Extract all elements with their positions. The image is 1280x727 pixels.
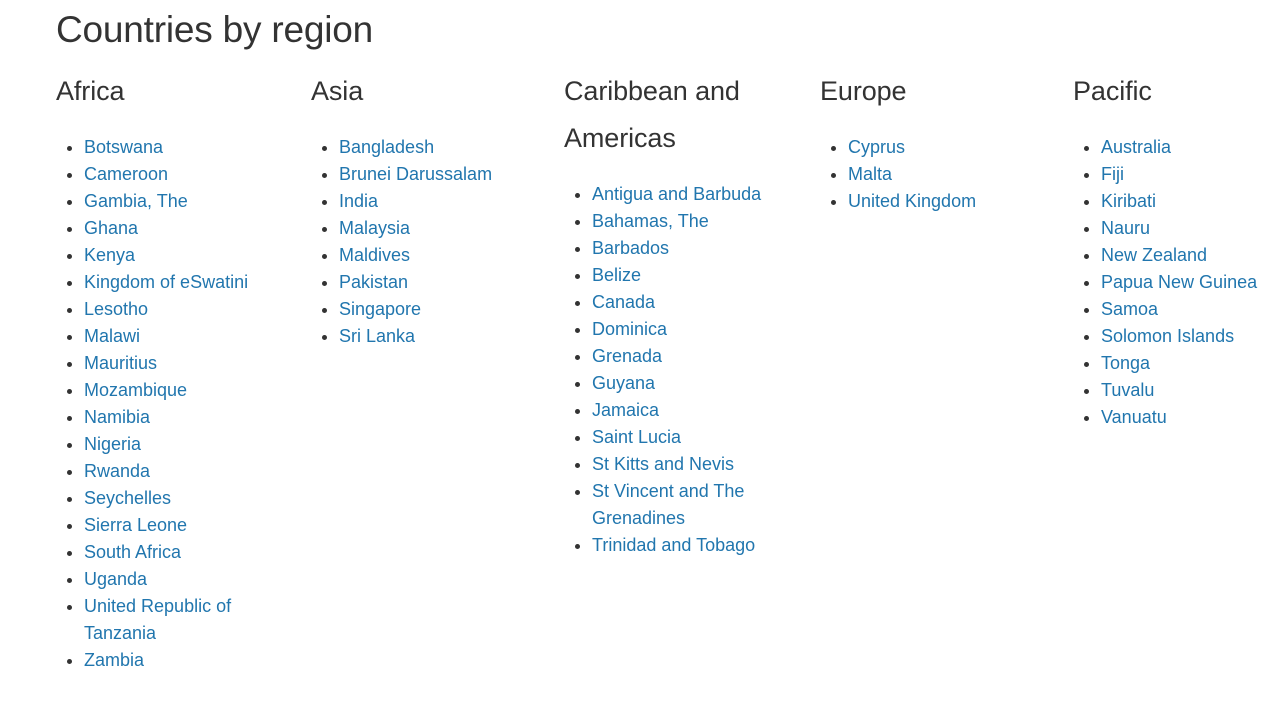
country-link[interactable]: Lesotho bbox=[84, 299, 148, 319]
country-link[interactable]: Nigeria bbox=[84, 434, 141, 454]
list-item[interactable]: Brunei Darussalam bbox=[329, 161, 548, 188]
country-link[interactable]: Trinidad and Tobago bbox=[592, 535, 755, 555]
country-link[interactable]: Dominica bbox=[592, 319, 667, 339]
country-link[interactable]: Fiji bbox=[1101, 164, 1124, 184]
list-item[interactable]: United Republic of Tanzania bbox=[74, 593, 295, 647]
list-item[interactable]: Bangladesh bbox=[329, 134, 548, 161]
list-item[interactable]: Uganda bbox=[74, 566, 295, 593]
country-link[interactable]: Sierra Leone bbox=[84, 515, 187, 535]
list-item[interactable]: St Kitts and Nevis bbox=[582, 451, 804, 478]
country-link[interactable]: Ghana bbox=[84, 218, 138, 238]
country-link[interactable]: Antigua and Barbuda bbox=[592, 184, 761, 204]
list-item[interactable]: Kingdom of eSwatini bbox=[74, 269, 295, 296]
country-link[interactable]: Guyana bbox=[592, 373, 655, 393]
list-item[interactable]: Canada bbox=[582, 289, 804, 316]
country-link[interactable]: St Kitts and Nevis bbox=[592, 454, 734, 474]
country-link[interactable]: India bbox=[339, 191, 378, 211]
list-item[interactable]: Belize bbox=[582, 262, 804, 289]
country-link[interactable]: Papua New Guinea bbox=[1101, 272, 1257, 292]
region-column-europe: Europe Cyprus Malta United Kingdom bbox=[820, 68, 1073, 215]
list-item[interactable]: Tuvalu bbox=[1091, 377, 1264, 404]
list-item[interactable]: Vanuatu bbox=[1091, 404, 1264, 431]
list-item[interactable]: United Kingdom bbox=[838, 188, 1057, 215]
country-link[interactable]: United Republic of Tanzania bbox=[84, 596, 231, 643]
list-item[interactable]: Guyana bbox=[582, 370, 804, 397]
country-link[interactable]: Malaysia bbox=[339, 218, 410, 238]
list-item[interactable]: India bbox=[329, 188, 548, 215]
list-item[interactable]: Cameroon bbox=[74, 161, 295, 188]
country-link[interactable]: Rwanda bbox=[84, 461, 150, 481]
list-item[interactable]: Sierra Leone bbox=[74, 512, 295, 539]
country-link[interactable]: Maldives bbox=[339, 245, 410, 265]
country-link[interactable]: Mauritius bbox=[84, 353, 157, 373]
list-item[interactable]: Dominica bbox=[582, 316, 804, 343]
list-item[interactable]: Grenada bbox=[582, 343, 804, 370]
region-heading-europe: Europe bbox=[820, 68, 1057, 115]
region-column-asia: Asia Bangladesh Brunei Darussalam India … bbox=[311, 68, 564, 350]
list-item[interactable]: Kenya bbox=[74, 242, 295, 269]
country-link[interactable]: Kingdom of eSwatini bbox=[84, 272, 248, 292]
country-link[interactable]: New Zealand bbox=[1101, 245, 1207, 265]
list-item[interactable]: Sri Lanka bbox=[329, 323, 548, 350]
region-columns: Africa Botswana Cameroon Gambia, The Gha… bbox=[56, 68, 1280, 674]
country-link[interactable]: Kenya bbox=[84, 245, 135, 265]
country-link[interactable]: Malawi bbox=[84, 326, 140, 346]
list-item[interactable]: Nigeria bbox=[74, 431, 295, 458]
region-heading-africa: Africa bbox=[56, 68, 295, 115]
list-item[interactable]: Barbados bbox=[582, 235, 804, 262]
country-link[interactable]: Canada bbox=[592, 292, 655, 312]
country-link[interactable]: Australia bbox=[1101, 137, 1171, 157]
list-item[interactable]: Saint Lucia bbox=[582, 424, 804, 451]
list-item[interactable]: Kiribati bbox=[1091, 188, 1264, 215]
country-link[interactable]: Jamaica bbox=[592, 400, 659, 420]
region-heading-pacific: Pacific bbox=[1073, 68, 1264, 115]
list-item[interactable]: St Vincent and The Grenadines bbox=[582, 478, 804, 532]
country-link[interactable]: United Kingdom bbox=[848, 191, 976, 211]
list-item[interactable]: Tonga bbox=[1091, 350, 1264, 377]
list-item[interactable]: Antigua and Barbuda bbox=[582, 181, 804, 208]
list-item[interactable]: Lesotho bbox=[74, 296, 295, 323]
list-item[interactable]: Namibia bbox=[74, 404, 295, 431]
country-link[interactable]: Botswana bbox=[84, 137, 163, 157]
list-item[interactable]: Ghana bbox=[74, 215, 295, 242]
list-item[interactable]: Seychelles bbox=[74, 485, 295, 512]
list-item[interactable]: Rwanda bbox=[74, 458, 295, 485]
list-item[interactable]: Solomon Islands bbox=[1091, 323, 1264, 350]
list-item[interactable]: Malawi bbox=[74, 323, 295, 350]
country-link[interactable]: Barbados bbox=[592, 238, 669, 258]
country-link[interactable]: Tuvalu bbox=[1101, 380, 1154, 400]
country-link[interactable]: Gambia, The bbox=[84, 191, 188, 211]
list-item[interactable]: Singapore bbox=[329, 296, 548, 323]
region-column-africa: Africa Botswana Cameroon Gambia, The Gha… bbox=[56, 68, 311, 674]
list-item[interactable]: New Zealand bbox=[1091, 242, 1264, 269]
list-item[interactable]: Cyprus bbox=[838, 134, 1057, 161]
list-item[interactable]: Maldives bbox=[329, 242, 548, 269]
country-link[interactable]: Singapore bbox=[339, 299, 421, 319]
country-list-caribbean-and-americas: Antigua and Barbuda Bahamas, The Barbado… bbox=[564, 181, 804, 559]
country-link[interactable]: Sri Lanka bbox=[339, 326, 415, 346]
country-link[interactable]: Zambia bbox=[84, 650, 144, 670]
country-link[interactable]: Uganda bbox=[84, 569, 147, 589]
country-link[interactable]: Bahamas, The bbox=[592, 211, 709, 231]
country-link[interactable]: Tonga bbox=[1101, 353, 1150, 373]
list-item[interactable]: Malta bbox=[838, 161, 1057, 188]
list-item[interactable]: Mauritius bbox=[74, 350, 295, 377]
region-heading-asia: Asia bbox=[311, 68, 548, 115]
country-link[interactable]: St Vincent and The Grenadines bbox=[592, 481, 744, 528]
list-item[interactable]: Gambia, The bbox=[74, 188, 295, 215]
list-item[interactable]: Malaysia bbox=[329, 215, 548, 242]
countries-by-region-page: Countries by region Africa Botswana Came… bbox=[0, 0, 1280, 727]
country-link[interactable]: Seychelles bbox=[84, 488, 171, 508]
country-link[interactable]: Namibia bbox=[84, 407, 150, 427]
list-item[interactable]: South Africa bbox=[74, 539, 295, 566]
region-heading-caribbean-and-americas: Caribbean and Americas bbox=[564, 68, 804, 162]
list-item[interactable]: Trinidad and Tobago bbox=[582, 532, 804, 559]
region-column-pacific: Pacific Australia Fiji Kiribati Nauru Ne… bbox=[1073, 68, 1280, 431]
country-link[interactable]: South Africa bbox=[84, 542, 181, 562]
country-link[interactable]: Saint Lucia bbox=[592, 427, 681, 447]
list-item[interactable]: Pakistan bbox=[329, 269, 548, 296]
country-list-asia: Bangladesh Brunei Darussalam India Malay… bbox=[311, 134, 548, 350]
country-link[interactable]: Mozambique bbox=[84, 380, 187, 400]
list-item[interactable]: Bahamas, The bbox=[582, 208, 804, 235]
country-link[interactable]: Belize bbox=[592, 265, 641, 285]
country-link[interactable]: Solomon Islands bbox=[1101, 326, 1234, 346]
list-item[interactable]: Australia bbox=[1091, 134, 1264, 161]
country-list-europe: Cyprus Malta United Kingdom bbox=[820, 134, 1057, 215]
list-item[interactable]: Mozambique bbox=[74, 377, 295, 404]
country-link[interactable]: Vanuatu bbox=[1101, 407, 1167, 427]
country-link[interactable]: Kiribati bbox=[1101, 191, 1156, 211]
country-link[interactable]: Grenada bbox=[592, 346, 662, 366]
country-link[interactable]: Cyprus bbox=[848, 137, 905, 157]
country-link[interactable]: Cameroon bbox=[84, 164, 168, 184]
list-item[interactable]: Papua New Guinea bbox=[1091, 269, 1264, 296]
country-list-pacific: Australia Fiji Kiribati Nauru New Zealan… bbox=[1073, 134, 1264, 431]
country-link[interactable]: Brunei Darussalam bbox=[339, 164, 492, 184]
list-item[interactable]: Nauru bbox=[1091, 215, 1264, 242]
page-title: Countries by region bbox=[56, 0, 1280, 54]
list-item[interactable]: Samoa bbox=[1091, 296, 1264, 323]
country-link[interactable]: Malta bbox=[848, 164, 892, 184]
country-link[interactable]: Pakistan bbox=[339, 272, 408, 292]
list-item[interactable]: Zambia bbox=[74, 647, 295, 674]
list-item[interactable]: Botswana bbox=[74, 134, 295, 161]
country-list-africa: Botswana Cameroon Gambia, The Ghana Keny… bbox=[56, 134, 295, 674]
region-column-caribbean-and-americas: Caribbean and Americas Antigua and Barbu… bbox=[564, 68, 820, 559]
list-item[interactable]: Jamaica bbox=[582, 397, 804, 424]
country-link[interactable]: Nauru bbox=[1101, 218, 1150, 238]
country-link[interactable]: Samoa bbox=[1101, 299, 1158, 319]
list-item[interactable]: Fiji bbox=[1091, 161, 1264, 188]
country-link[interactable]: Bangladesh bbox=[339, 137, 434, 157]
